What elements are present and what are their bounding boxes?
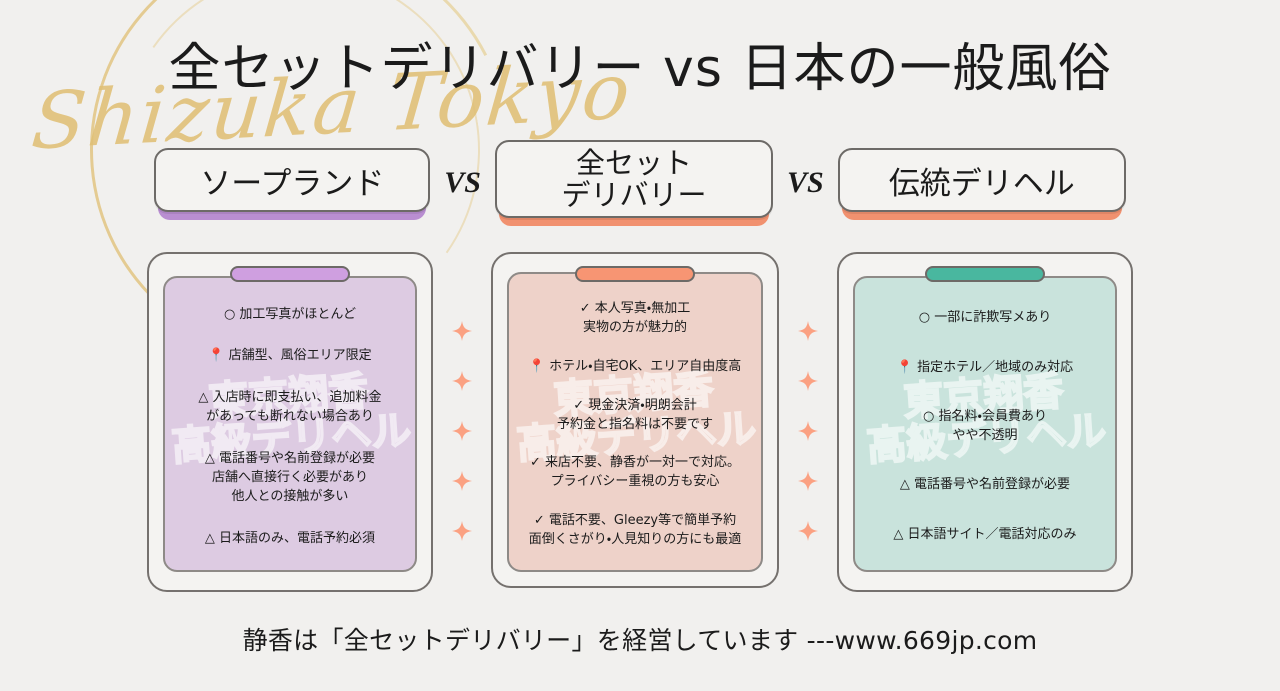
card-panel-soapland: 東京翔香 高級デリヘル○ 加工写真がほとんど📍 店舗型、風俗エリア限定△ 入店時…: [163, 276, 417, 572]
card-panel-full-set-delivery: 東京翔香 高級デリヘル✓ 本人写真・無加工 実物の方が魅力的📍 ホテル・自宅OK…: [507, 272, 763, 572]
triangle-mark-icon: △: [205, 451, 215, 466]
sparkle-icon: [452, 371, 472, 391]
check-mark-icon: ✓: [530, 455, 541, 470]
card-item: ✓ 電話不要、Gleezy等で簡単予約 面倒くさがり・人見知りの方にも最適: [527, 511, 743, 551]
sparkle-icon: [798, 521, 818, 541]
card-item-text: 加工写真がほとんど: [235, 307, 356, 322]
card-item: △ 電話番号や名前登録が必要 店舗へ直接行く必要があり 他人との接触が多い: [203, 449, 377, 508]
card-item: ✓ 本人写真・無加工 実物の方が魅力的: [578, 299, 692, 339]
card-item: ○ 一部に詐欺写メあり: [917, 308, 1053, 329]
sparkle-column-2: [779, 252, 837, 592]
triangle-mark-icon: △: [900, 477, 910, 492]
card-item-text: 日本語のみ、電話予約必須: [215, 531, 375, 546]
pin-mark-icon: 📍: [529, 359, 545, 374]
card-item-text: 店舗型、風俗エリア限定: [225, 348, 372, 363]
sparkle-icon: [798, 371, 818, 391]
sparkle-icon: [452, 521, 472, 541]
card-item-text: 本人写真・無加工 実物の方が魅力的: [583, 301, 690, 335]
card-item: ✓ 来店不要、静香が一対一で対応。 プライバシー重視の方も安心: [528, 453, 742, 493]
card-item: ✓ 現金決済・明朗会計 予約金と指名料は不要です: [555, 396, 715, 436]
badge-soapland[interactable]: ソープランド: [154, 148, 430, 212]
card-item: △ 日本語のみ、電話予約必須: [203, 529, 377, 550]
card-item-text: 電話番号や名前登録が必要: [910, 477, 1070, 492]
badge-soapland-underline: [158, 208, 426, 220]
card-panel-traditional-deriheru: 東京翔香 高級デリヘル○ 一部に詐欺写メあり📍 指定ホテル／地域のみ対応○ 指名…: [853, 276, 1117, 572]
card-item: △ 入店時に即支払い、追加料金 があっても断れない場合あり: [196, 388, 383, 428]
pin-mark-icon: 📍: [208, 348, 224, 363]
card-full-set-delivery: 東京翔香 高級デリヘル✓ 本人写真・無加工 実物の方が魅力的📍 ホテル・自宅OK…: [491, 252, 779, 588]
pin-mark-icon: 📍: [897, 360, 913, 375]
card-item-text: 来店不要、静香が一対一で対応。 プライバシー重視の方も安心: [541, 455, 740, 489]
badge-soapland-label: ソープランド: [200, 158, 384, 203]
badge-full-set-delivery-underline: [499, 214, 769, 226]
card-item-text: 電話不要、Gleezy等で簡単予約 面倒くさがり・人見知りの方にも最適: [529, 513, 741, 547]
check-mark-icon: ✓: [534, 513, 545, 528]
badge-full-set-delivery-line1: 全セット: [576, 147, 692, 179]
sparkle-icon: [452, 321, 472, 341]
vs-separator-2: VS: [773, 166, 838, 200]
card-item-text: 指定ホテル／地域のみ対応: [913, 360, 1073, 375]
vs-separator-1: VS: [430, 166, 495, 200]
card-item-text: 指名料・会員費あり やや不透明: [934, 409, 1047, 443]
check-mark-icon: ✓: [580, 301, 591, 316]
card-soapland: 東京翔香 高級デリヘル○ 加工写真がほとんど📍 店舗型、風俗エリア限定△ 入店時…: [147, 252, 433, 592]
check-mark-icon: ✓: [573, 398, 584, 413]
card-tab-full-set-delivery: [575, 266, 695, 282]
comparison-badge-row: ソープランド VS 全セット デリバリー VS 伝統デリヘル: [0, 140, 1280, 222]
comparison-card-strip: 東京翔香 高級デリヘル○ 加工写真がほとんど📍 店舗型、風俗エリア限定△ 入店時…: [0, 252, 1280, 592]
circle-mark-icon: ○: [919, 310, 930, 325]
sparkle-icon: [452, 471, 472, 491]
triangle-mark-icon: △: [205, 531, 215, 546]
card-item-text: 日本語サイト／電話対応のみ: [903, 527, 1076, 542]
card-item: 📍 店舗型、風俗エリア限定: [206, 346, 373, 367]
circle-mark-icon: ○: [923, 409, 934, 424]
card-tab-soapland: [230, 266, 350, 282]
page-title: 全セットデリバリー vs 日本の一般風俗: [0, 26, 1280, 101]
badge-full-set-delivery[interactable]: 全セット デリバリー: [495, 140, 773, 218]
card-tab-traditional-deriheru: [925, 266, 1045, 282]
card-item-text: ホテル・自宅OK、エリア自由度高: [545, 359, 741, 374]
card-item: 📍 指定ホテル／地域のみ対応: [895, 358, 1075, 379]
badge-traditional-deriheru-underline: [842, 208, 1122, 220]
card-item: △ 日本語サイト／電話対応のみ: [891, 525, 1078, 546]
card-item-text: 一部に詐欺写メあり: [930, 310, 1051, 325]
card-item: △ 電話番号や名前登録が必要: [898, 475, 1072, 496]
badge-traditional-deriheru[interactable]: 伝統デリヘル: [838, 148, 1126, 212]
card-item: ○ 指名料・会員費あり やや不透明: [921, 407, 1049, 447]
circle-mark-icon: ○: [224, 307, 235, 322]
sparkle-column-1: [433, 252, 491, 592]
triangle-mark-icon: △: [893, 527, 903, 542]
card-item: 📍 ホテル・自宅OK、エリア自由度高: [527, 357, 744, 378]
badge-traditional-deriheru-label: 伝統デリヘル: [889, 158, 1075, 203]
card-traditional-deriheru: 東京翔香 高級デリヘル○ 一部に詐欺写メあり📍 指定ホテル／地域のみ対応○ 指名…: [837, 252, 1133, 592]
sparkle-icon: [798, 421, 818, 441]
footer-note: 静香は「全セットデリバリー」を経営しています ---www.669jp.com: [0, 621, 1280, 657]
sparkle-icon: [798, 321, 818, 341]
card-item-text: 電話番号や名前登録が必要 店舗へ直接行く必要があり 他人との接触が多い: [212, 451, 375, 504]
sparkle-icon: [452, 421, 472, 441]
badge-full-set-delivery-line2: デリバリー: [561, 179, 706, 211]
card-item: ○ 加工写真がほとんど: [222, 305, 358, 326]
triangle-mark-icon: △: [198, 390, 208, 405]
card-item-text: 入店時に即支払い、追加料金 があっても断れない場合あり: [206, 390, 381, 424]
sparkle-icon: [798, 471, 818, 491]
